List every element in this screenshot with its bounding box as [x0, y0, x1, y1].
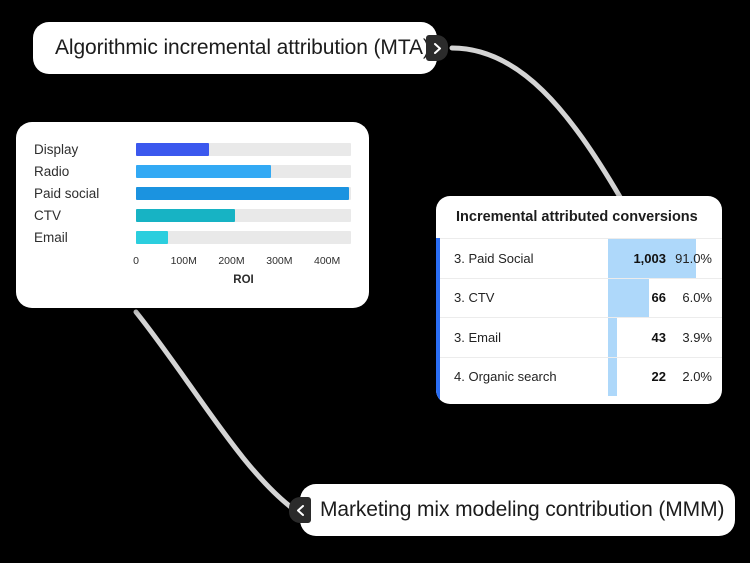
- bar-fill: [136, 165, 271, 178]
- table-cell-value: 22: [612, 369, 666, 384]
- table-cell-channel: 4. Organic search: [436, 369, 612, 384]
- bar-row: Radio: [34, 160, 351, 182]
- chevron-left-icon[interactable]: [289, 497, 311, 523]
- table-cell-channel: 3. CTV: [436, 290, 612, 305]
- bar-fill: [136, 231, 168, 244]
- table-cell-value: 43: [612, 330, 666, 345]
- table-cell-percent: 6.0%: [666, 290, 722, 305]
- chevron-right-icon[interactable]: [426, 35, 448, 61]
- roi-axis-title: ROI: [136, 274, 351, 286]
- table-cell-percent: 3.9%: [666, 330, 722, 345]
- table-cell-value: 66: [612, 290, 666, 305]
- card-mta-label: Algorithmic incremental attribution (MTA…: [55, 36, 430, 60]
- bar-row: Display: [34, 138, 351, 160]
- card-roi-chart: Display Radio Paid social CTV: [16, 122, 369, 308]
- table-row[interactable]: 3. Email 43 3.9%: [436, 317, 722, 357]
- table-title: Incremental attributed conversions: [436, 196, 722, 238]
- card-mmm-label: Marketing mix modeling contribution (MMM…: [320, 498, 724, 522]
- table-cell-percent: 2.0%: [666, 369, 722, 384]
- table-accent-bar: [436, 238, 440, 404]
- bar-row: CTV: [34, 204, 351, 226]
- bar-track: [136, 165, 351, 178]
- bar-fill: [136, 209, 235, 222]
- card-mta[interactable]: Algorithmic incremental attribution (MTA…: [33, 22, 437, 74]
- bar-category-label: Email: [34, 230, 136, 245]
- bar-row: Paid social: [34, 182, 351, 204]
- axis-tick-label: 400M: [314, 255, 340, 267]
- table-row[interactable]: 3. Paid Social 1,003 91.0%: [436, 238, 722, 278]
- table-row[interactable]: 4. Organic search 22 2.0%: [436, 357, 722, 397]
- bar-fill: [136, 187, 349, 200]
- table-cell-channel: 3. Paid Social: [436, 251, 612, 266]
- axis-tick-label: 0: [133, 255, 139, 267]
- bar-category-label: CTV: [34, 208, 136, 223]
- roi-bars-area: Display Radio Paid social CTV: [34, 138, 351, 248]
- bar-row: Email: [34, 226, 351, 248]
- bar-category-label: Display: [34, 142, 136, 157]
- table-body: 3. Paid Social 1,003 91.0% 3. CTV 66 6.0…: [436, 238, 722, 404]
- axis-tick-label: 200M: [218, 255, 244, 267]
- bar-track: [136, 143, 351, 156]
- axis-tick-label: 100M: [171, 255, 197, 267]
- flow-diagram-canvas: Algorithmic incremental attribution (MTA…: [0, 0, 750, 563]
- bar-category-label: Paid social: [34, 186, 136, 201]
- table-row[interactable]: 3. CTV 66 6.0%: [436, 278, 722, 318]
- connector-roi-to-mmm: [136, 312, 296, 511]
- roi-axis-ticks: 0 100M 200M 300M 400M: [136, 255, 351, 271]
- table-cell-channel: 3. Email: [436, 330, 612, 345]
- bar-track: [136, 209, 351, 222]
- bar-fill: [136, 143, 209, 156]
- table-cell-value: 1,003: [612, 251, 666, 266]
- connector-mta-to-table: [452, 48, 620, 197]
- bar-track: [136, 187, 351, 200]
- bar-category-label: Radio: [34, 164, 136, 179]
- card-mmm[interactable]: Marketing mix modeling contribution (MMM…: [300, 484, 735, 536]
- bar-track: [136, 231, 351, 244]
- axis-tick-label: 300M: [266, 255, 292, 267]
- table-cell-percent: 91.0%: [666, 251, 722, 266]
- card-incremental-conversions: Incremental attributed conversions 3. Pa…: [436, 196, 722, 404]
